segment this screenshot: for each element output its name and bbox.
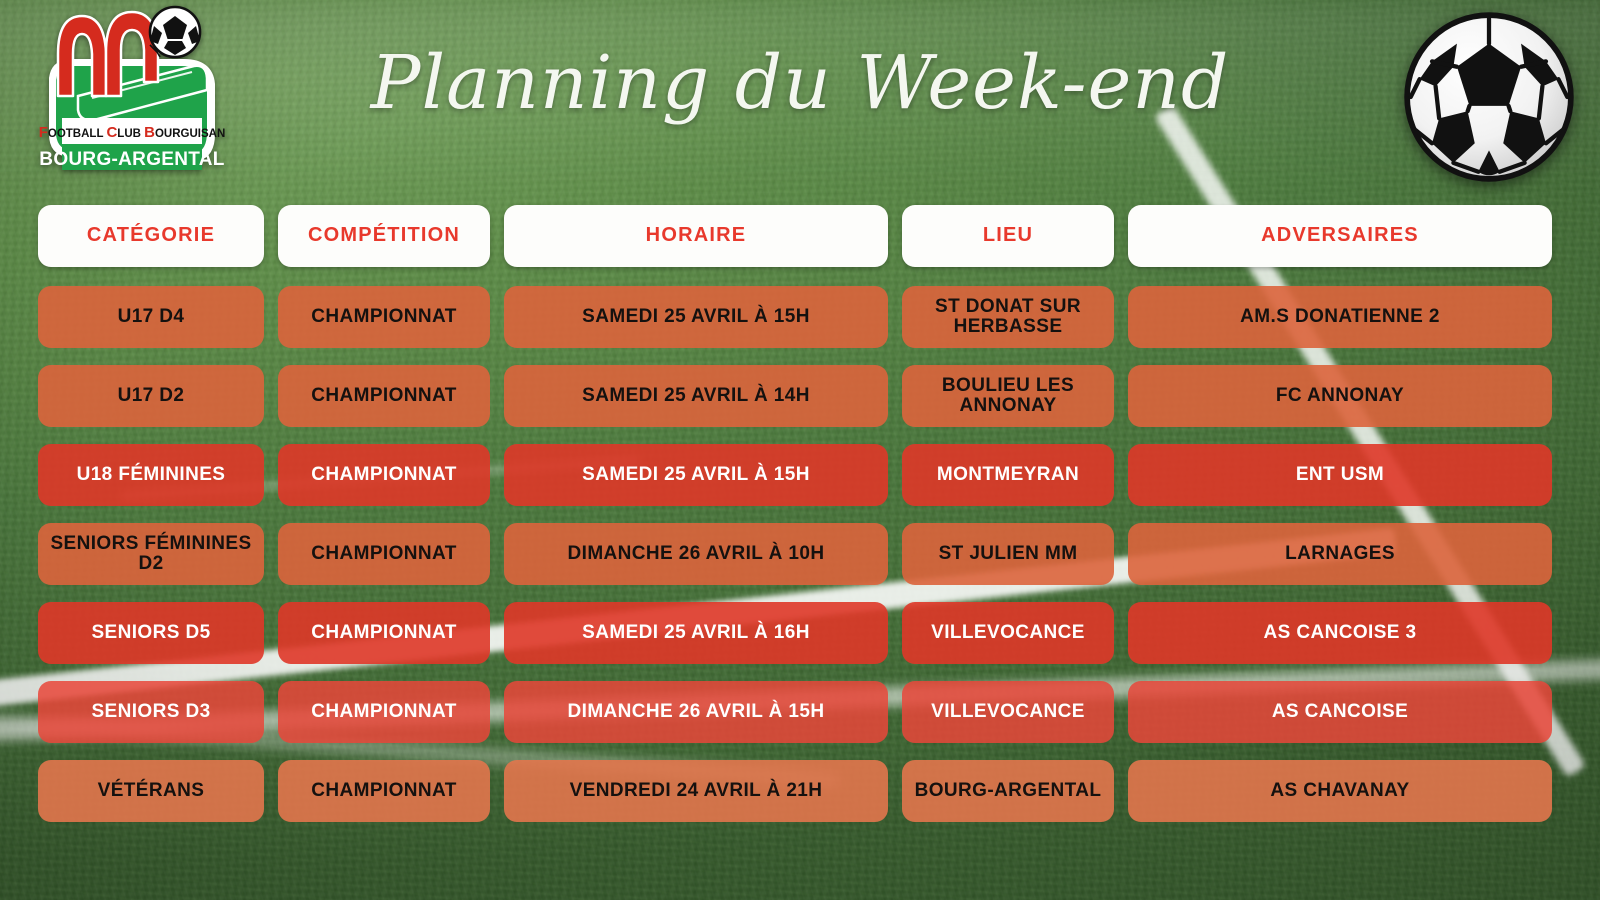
cell-competition: CHAMPIONNAT — [278, 286, 490, 348]
cell-horaire: SAMEDI 25 AVRIL À 15H — [504, 444, 888, 506]
table-row: VÉTÉRANS CHAMPIONNAT VENDREDI 24 AVRIL À… — [38, 760, 1546, 822]
cell-categorie: SENIORS D5 — [38, 602, 264, 664]
cell-competition: CHAMPIONNAT — [278, 365, 490, 427]
column-header-lieu: LIEU — [902, 205, 1114, 267]
cell-competition: CHAMPIONNAT — [278, 681, 490, 743]
table-row: U17 D4 CHAMPIONNAT SAMEDI 25 AVRIL À 15H… — [38, 286, 1546, 348]
cell-categorie: U17 D4 — [38, 286, 264, 348]
column-header-categorie: CATÉGORIE — [38, 205, 264, 267]
cell-competition: CHAMPIONNAT — [278, 760, 490, 822]
cell-categorie: SENIORS D3 — [38, 681, 264, 743]
cell-categorie: SENIORS FÉMININES D2 — [38, 523, 264, 585]
cell-horaire: VENDREDI 24 AVRIL À 21H — [504, 760, 888, 822]
cell-lieu: ST JULIEN MM — [902, 523, 1114, 585]
cell-adversaires: AS CHAVANAY — [1128, 760, 1552, 822]
table-row: SENIORS D5 CHAMPIONNAT SAMEDI 25 AVRIL À… — [38, 602, 1546, 664]
page-title: Planning du Week-end — [300, 46, 1300, 120]
club-crest-icon: FOOTBALL CLUB BOURGUISAN BOURG-ARGENTAL — [34, 4, 230, 184]
cell-lieu: VILLEVOCANCE — [902, 602, 1114, 664]
cell-lieu: BOULIEU LES ANNONAY — [902, 365, 1114, 427]
cell-adversaires: AS CANCOISE — [1128, 681, 1552, 743]
cell-lieu: ST DONAT SUR HERBASSE — [902, 286, 1114, 348]
cell-horaire: DIMANCHE 26 AVRIL À 10H — [504, 523, 888, 585]
cell-categorie: U18 FÉMININES — [38, 444, 264, 506]
column-header-adversaires: ADVERSAIRES — [1128, 205, 1552, 267]
cell-competition: CHAMPIONNAT — [278, 523, 490, 585]
cell-horaire: SAMEDI 25 AVRIL À 14H — [504, 365, 888, 427]
cell-horaire: DIMANCHE 26 AVRIL À 15H — [504, 681, 888, 743]
cell-lieu: VILLEVOCANCE — [902, 681, 1114, 743]
table-row: SENIORS D3 CHAMPIONNAT DIMANCHE 26 AVRIL… — [38, 681, 1546, 743]
table-row: U17 D2 CHAMPIONNAT SAMEDI 25 AVRIL À 14H… — [38, 365, 1546, 427]
crest-ball-icon — [150, 7, 200, 57]
cell-horaire: SAMEDI 25 AVRIL À 16H — [504, 602, 888, 664]
table-row: U18 FÉMININES CHAMPIONNAT SAMEDI 25 AVRI… — [38, 444, 1546, 506]
crest-city-name: BOURG-ARGENTAL — [39, 149, 224, 170]
cell-categorie: U17 D2 — [38, 365, 264, 427]
table-row: SENIORS FÉMININES D2 CHAMPIONNAT DIMANCH… — [38, 523, 1546, 585]
table-header-row: CATÉGORIE COMPÉTITION HORAIRE LIEU ADVER… — [38, 205, 1546, 267]
cell-adversaires: AS CANCOISE 3 — [1128, 602, 1552, 664]
cell-lieu: MONTMEYRAN — [902, 444, 1114, 506]
schedule-table: CATÉGORIE COMPÉTITION HORAIRE LIEU ADVER… — [38, 205, 1546, 839]
cell-lieu: BOURG-ARGENTAL — [902, 760, 1114, 822]
cell-competition: CHAMPIONNAT — [278, 444, 490, 506]
cell-adversaires: LARNAGES — [1128, 523, 1552, 585]
column-header-competition: COMPÉTITION — [278, 205, 490, 267]
soccer-ball-icon — [1400, 8, 1578, 186]
cell-adversaires: ENT USM — [1128, 444, 1552, 506]
cell-categorie: VÉTÉRANS — [38, 760, 264, 822]
cell-horaire: SAMEDI 25 AVRIL À 15H — [504, 286, 888, 348]
cell-adversaires: AM.S DONATIENNE 2 — [1128, 286, 1552, 348]
cell-competition: CHAMPIONNAT — [278, 602, 490, 664]
cell-adversaires: FC ANNONAY — [1128, 365, 1552, 427]
column-header-horaire: HORAIRE — [504, 205, 888, 267]
